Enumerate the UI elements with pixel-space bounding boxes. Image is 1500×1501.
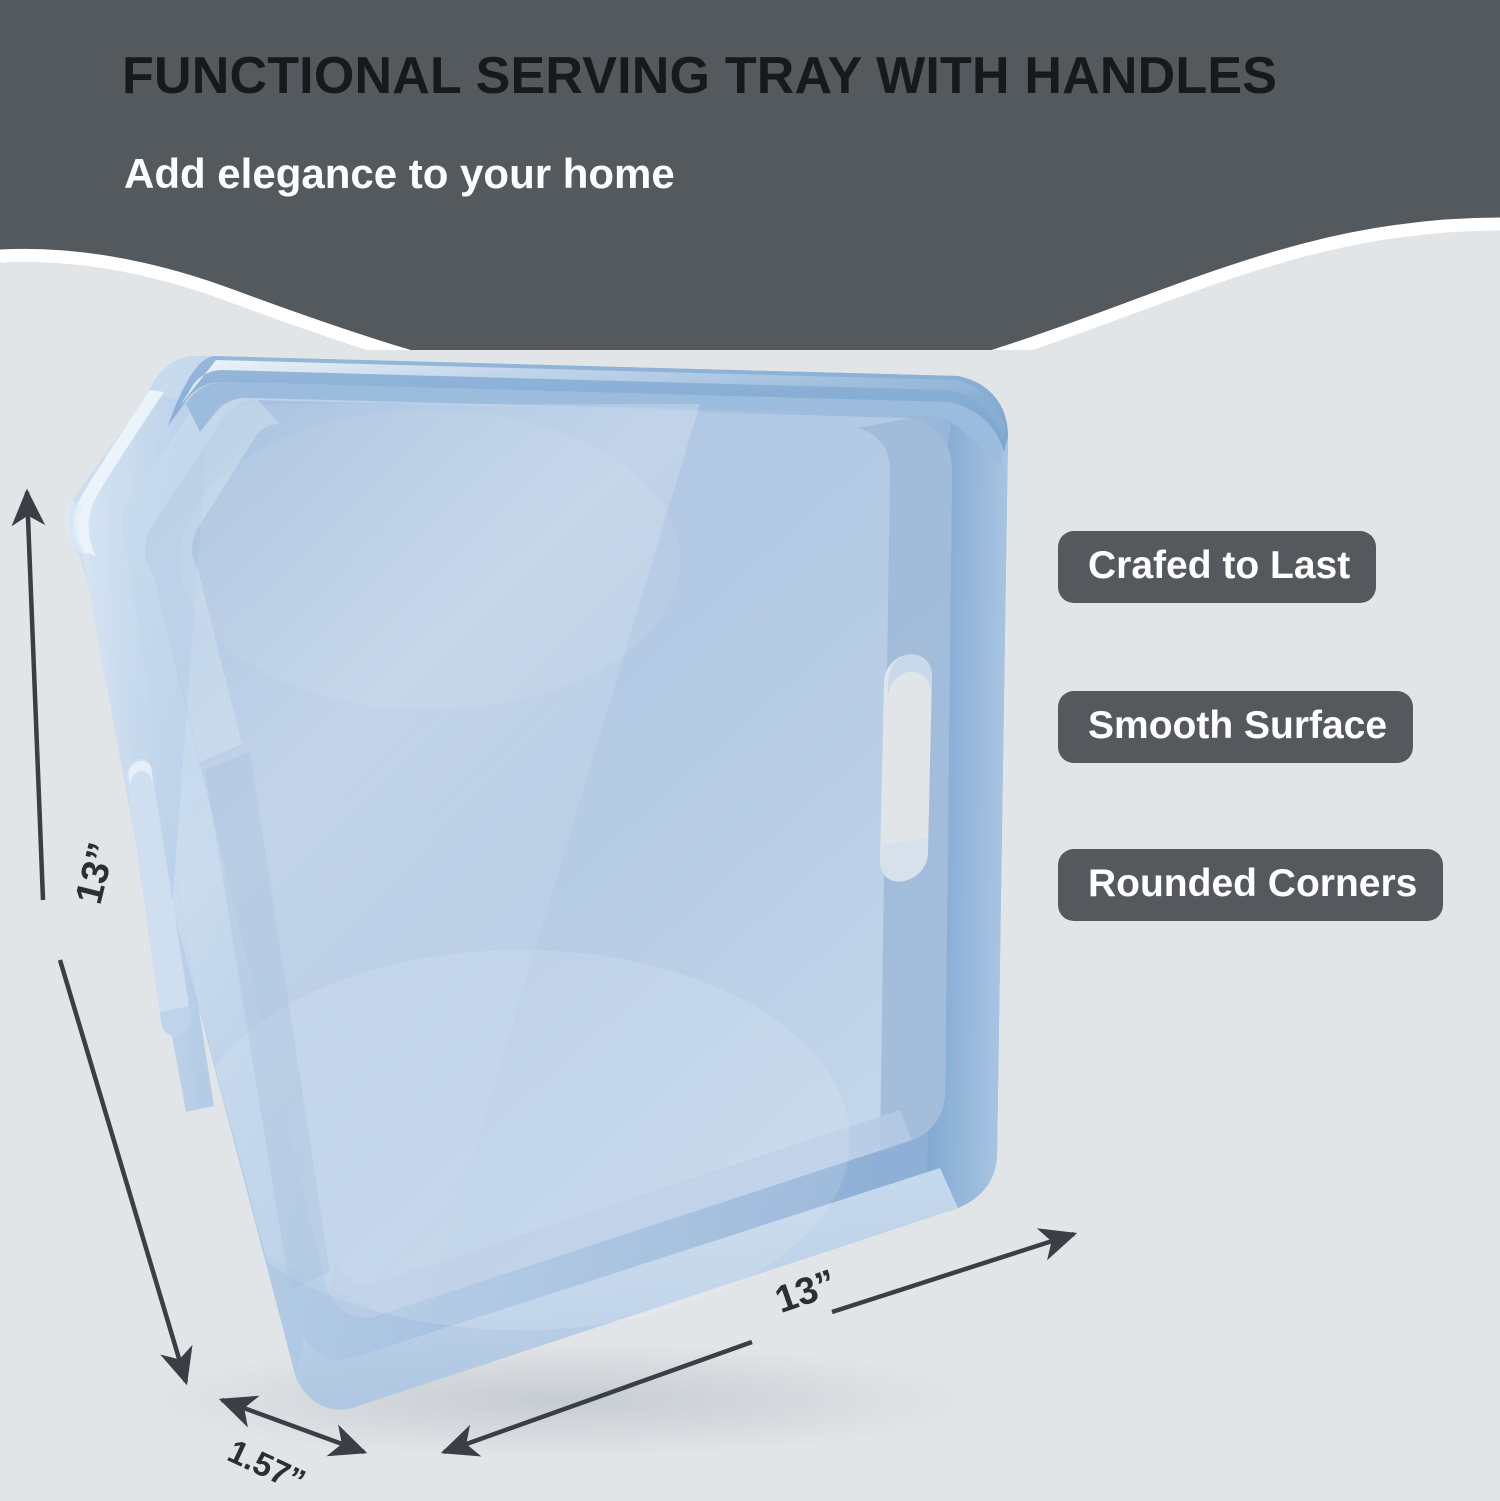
- infographic-canvas: FUNCTIONAL SERVING TRAY WITH HANDLES Add…: [0, 0, 1500, 1500]
- dimension-line-height: [27, 492, 186, 1382]
- list-item: Crafed to Last: [1058, 531, 1376, 603]
- dimension-line-width: [444, 1234, 1074, 1452]
- feature-badge-rounded-corners[interactable]: Rounded Corners: [1058, 849, 1443, 921]
- feature-badge-smooth-surface[interactable]: Smooth Surface: [1058, 691, 1413, 763]
- list-item: Rounded Corners: [1058, 849, 1443, 921]
- feature-badge-crafted-to-last[interactable]: Crafed to Last: [1058, 531, 1376, 603]
- list-item: Smooth Surface: [1058, 691, 1413, 763]
